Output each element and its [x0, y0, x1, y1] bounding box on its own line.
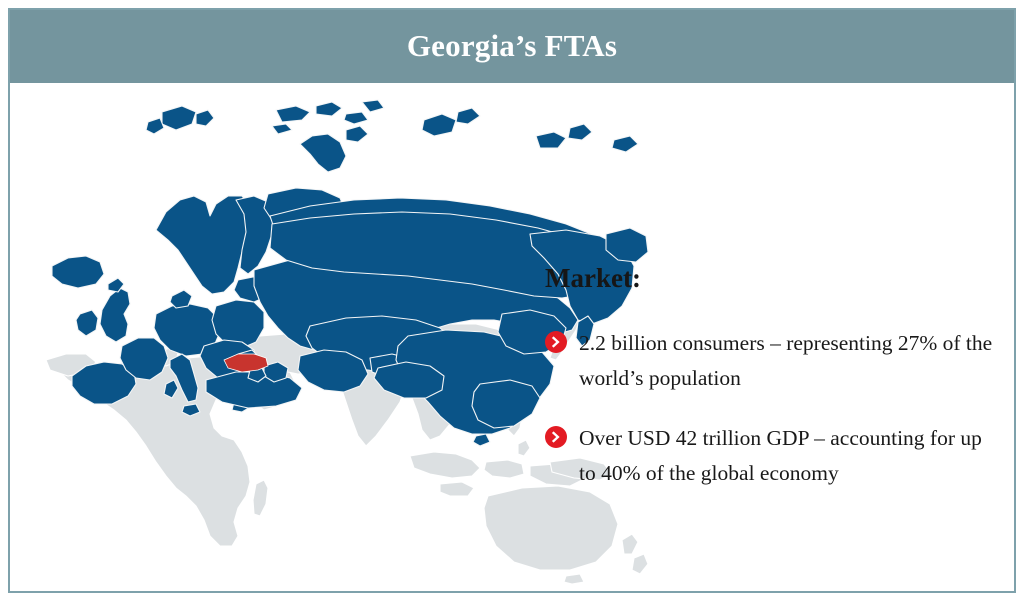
market-panel: Market: 2.2 billion consumers – represen… — [545, 264, 1014, 517]
list-item-text: Over USD 42 trillion GDP – accounting fo… — [579, 421, 1003, 491]
chevron-right-circle-icon — [545, 331, 567, 353]
chevron-right-circle-icon — [545, 426, 567, 448]
slide: Georgia’s FTAs — [0, 0, 1024, 601]
list-item: Over USD 42 trillion GDP – accounting fo… — [545, 421, 1014, 491]
slide-header: Georgia’s FTAs — [8, 8, 1016, 83]
market-heading: Market: — [545, 264, 1014, 294]
list-item: 2.2 billion consumers – representing 27%… — [545, 326, 1014, 396]
slide-body: Market: 2.2 billion consumers – represen… — [10, 84, 1014, 591]
list-item-text: 2.2 billion consumers – representing 27%… — [579, 326, 1003, 396]
page-title: Georgia’s FTAs — [407, 30, 617, 61]
